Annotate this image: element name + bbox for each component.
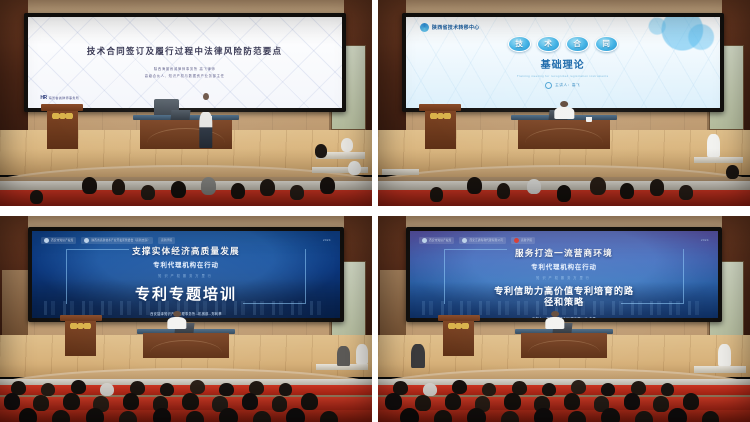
audience-head (679, 185, 692, 199)
audience-head (286, 408, 305, 422)
audience-head (63, 393, 79, 409)
audience-head (253, 411, 271, 422)
slide-subhead: 专利代理机构在行动 (153, 260, 219, 269)
audience-head (430, 187, 443, 201)
bubble-char-1: 技 (508, 36, 531, 52)
audience-head (112, 179, 125, 194)
audience-head (272, 396, 288, 411)
audience-head (201, 177, 217, 195)
audience-head (320, 411, 338, 422)
audience-head (219, 408, 238, 422)
audience-head (668, 408, 687, 422)
bubble-char-4: 同 (595, 36, 618, 52)
seated-presenter (545, 311, 564, 330)
audience-head (534, 408, 553, 422)
audience-head (497, 183, 510, 198)
projection-screen-frame: 技术合同签订及履行过程中法律风险防范要点 陕西海普睿诚律师事务所 高飞律师 高级… (24, 13, 346, 112)
audience-head (52, 410, 70, 422)
audience-head (153, 408, 172, 422)
side-attendee (411, 344, 424, 369)
audience-head (100, 383, 113, 396)
projection-screen-frame: 西安市知识产权局 陕西省高新技术产业开发区管委会（高新支队） 高新学院 2024 (28, 227, 344, 322)
laptop (171, 110, 191, 120)
audience-head (4, 393, 20, 409)
side-attendee (348, 161, 361, 175)
audience-head (653, 396, 669, 411)
stage-desk (516, 115, 613, 149)
audience-head (415, 395, 431, 410)
audience-seat-row (0, 190, 372, 206)
stage-desk (519, 329, 608, 358)
audience-head (41, 383, 55, 396)
audience-head (467, 177, 482, 193)
audience-head (260, 179, 275, 195)
logo-mark: HR (40, 95, 46, 101)
panel-top-right[interactable]: 陕西省技术转移中心 技 术 合 同 基础理论 Training meeting … (378, 0, 750, 206)
side-attendee (726, 165, 739, 179)
audience-head (571, 380, 586, 394)
audience-head (171, 181, 186, 197)
photo-grid: 技术合同签订及履行过程中法律风险防范要点 陕西海普睿诚律师事务所 高飞律师 高级… (0, 0, 750, 422)
lectern (441, 315, 476, 356)
lecture-hall-scene: 陕西省技术转移中心 技 术 合 同 基础理论 Training meeting … (378, 0, 750, 206)
slide-title: 技术合同签订及履行过程中法律风险防范要点 (87, 45, 283, 57)
stage-desk (138, 115, 235, 149)
slide-deco-text: 知识产权服务万里行 (158, 273, 214, 278)
audience-head (190, 380, 205, 394)
stage-desk (141, 329, 230, 358)
slide-headline: 支撑实体经济高质量发展 (132, 245, 240, 257)
bubble-char-2: 术 (537, 36, 560, 52)
audience-head (231, 183, 245, 198)
audience-head (301, 393, 317, 409)
audience-head (82, 177, 97, 193)
slide-presenter: 主讲人：高飞 (545, 82, 580, 89)
lectern (45, 104, 80, 149)
side-attendee (718, 344, 731, 367)
standing-speaker (199, 93, 212, 149)
audience-head (445, 393, 461, 409)
side-table (694, 157, 742, 163)
audience-head (30, 190, 43, 204)
side-table (694, 366, 746, 372)
audience-head (620, 183, 634, 198)
side-attendee (315, 144, 327, 157)
slide-bottom-left: 西安市知识产权局 陕西省高新技术产业开发区管委会（高新支队） 高新学院 2024 (32, 231, 340, 318)
presenter-text: 主讲人：高飞 (555, 83, 580, 88)
side-attendee (341, 138, 354, 152)
slide-bottom-right: 西安市知识产权局 西安汇通专利代理有限公司 高新学院 2024 (410, 231, 718, 318)
audience-head (452, 380, 467, 394)
audience-head (279, 383, 292, 396)
audience-head (71, 380, 86, 394)
audience-head (683, 393, 699, 409)
audience-head (482, 383, 495, 396)
cup (586, 117, 592, 122)
panel-top-left[interactable]: 技术合同签订及履行过程中法律风险防范要点 陕西海普睿诚律师事务所 高飞律师 高级… (0, 0, 372, 206)
audience-desk-row (0, 181, 372, 189)
side-attendee (707, 134, 720, 157)
slide-top-left: 技术合同签订及履行过程中法律风险防范要点 陕西海普睿诚律师事务所 高飞律师 高级… (28, 17, 342, 108)
seated-presenter (167, 311, 186, 330)
slide-english-subtitle: Training meeting for recognized registra… (517, 74, 608, 78)
audience-head (601, 408, 620, 422)
audience-head (86, 408, 105, 422)
panel-bottom-right[interactable]: 西安市知识产权局 西安汇通专利代理有限公司 高新学院 2024 (378, 216, 750, 422)
audience-head (557, 185, 572, 201)
slide-big-title-line2: 径和策略 (544, 297, 584, 309)
audience-head (527, 179, 541, 193)
slide-subhead: 专利代理机构在行动 (531, 262, 597, 271)
audience-head (242, 393, 258, 409)
bubble-char-3: 合 (566, 36, 589, 52)
audience-head (290, 185, 303, 199)
audience-head (504, 393, 520, 409)
lecture-hall-scene: 西安市知识产权局 西安汇通专利代理有限公司 高新学院 2024 (378, 216, 750, 422)
audience-head (434, 410, 452, 422)
lecture-hall-scene: 西安市知识产权局 陕西省高新技术产业开发区管委会（高新支队） 高新学院 2024 (0, 216, 372, 422)
audience-head (320, 177, 335, 193)
slide-logo: HR 海普睿诚律师事务所 (40, 95, 79, 101)
side-attendee (356, 344, 369, 365)
slide-big-title: 专利专题培训 (135, 283, 237, 304)
audience-head (590, 177, 606, 195)
audience-head (33, 395, 49, 410)
audience-head (568, 411, 586, 422)
slide-top-right: 陕西省技术转移中心 技 术 合 同 基础理论 Training meeting … (406, 17, 720, 108)
lectern (423, 104, 458, 149)
panel-bottom-left[interactable]: 西安市知识产权局 陕西省高新技术产业开发区管委会（高新支队） 高新学院 2024 (0, 216, 372, 422)
side-table (382, 169, 419, 175)
projection-screen-frame: 陕西省技术转移中心 技 术 合 同 基础理论 Training meeting … (402, 13, 724, 112)
bubble-characters: 技 术 合 同 (508, 36, 618, 52)
presenter-icon (545, 82, 552, 89)
lecture-hall-scene: 技术合同签订及履行过程中法律风险防范要点 陕西海普睿诚律师事务所 高飞律师 高级… (0, 0, 372, 206)
seated-presenter (555, 101, 574, 120)
audience-head (635, 411, 653, 422)
audience-head (661, 383, 674, 396)
side-attendee (337, 346, 350, 367)
audience-head (182, 393, 198, 409)
audience-head (542, 383, 556, 396)
audience-head (423, 383, 437, 396)
audience-head (467, 408, 486, 422)
slide-headline: 服务打造一流营商环境 (515, 247, 613, 259)
lectern (63, 315, 98, 356)
slide-title: 基础理论 (541, 56, 585, 71)
audience-head (160, 383, 174, 396)
audience-head (219, 383, 233, 396)
projection-screen-frame: 西安市知识产权局 西安汇通专利代理有限公司 高新学院 2024 (406, 227, 722, 322)
audience-head (141, 185, 155, 199)
audience-head (123, 393, 139, 409)
audience-head (385, 393, 401, 409)
audience-head (650, 179, 665, 195)
audience-head (400, 408, 419, 422)
audience-head (564, 393, 580, 409)
audience-head (501, 411, 519, 422)
slide-deco-text: 知识产权服务万里行 (536, 275, 592, 280)
audience-head (19, 408, 38, 422)
logo-text: 海普睿诚律师事务所 (49, 96, 80, 100)
audience-head (624, 393, 640, 409)
slide-big-title-line1: 专利信助力高价值专利培育的路 (494, 286, 634, 298)
slide-subtitle-line2: 高级合伙人、知识产权与数据资产业务部主任 (145, 73, 225, 79)
audience-head (601, 383, 615, 396)
